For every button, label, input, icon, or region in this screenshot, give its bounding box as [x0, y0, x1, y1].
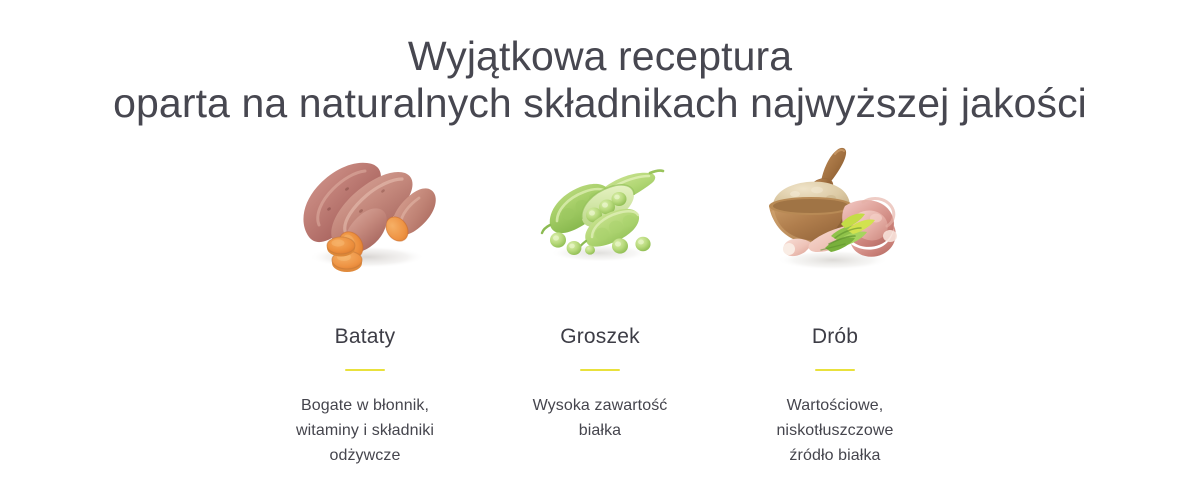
ingredient-title: Drób: [812, 324, 858, 350]
ingredient-description: Bogate w błonnik, witaminy i składniki o…: [296, 393, 434, 468]
ingredients-section: Wyjątkowa receptura oparta na naturalnyc…: [0, 0, 1200, 500]
poultry-and-meal-bowl-image: [755, 140, 915, 280]
ingredient-columns: Bataty Bogate w błonnik, witaminy i skła…: [248, 140, 952, 468]
green-peas-image: [520, 140, 680, 280]
ingredient-description: Wartościowe, niskotłuszczowe źródło biał…: [776, 393, 893, 468]
ingredient-title: Bataty: [335, 324, 396, 350]
page-title: Wyjątkowa receptura oparta na naturalnyc…: [0, 33, 1200, 127]
title-divider: [815, 369, 855, 371]
ingredient-description: Wysoka zawartość białka: [533, 393, 668, 443]
sweet-potato-image: [285, 140, 445, 280]
ingredient-card-drob: Drób Wartościowe, niskotłuszczowe źródło…: [718, 140, 952, 468]
ingredient-title: Groszek: [560, 324, 640, 350]
page-title-line-1: Wyjątkowa receptura: [0, 33, 1200, 80]
ingredient-card-groszek: Groszek Wysoka zawartość białka: [483, 140, 717, 468]
ingredient-card-bataty: Bataty Bogate w błonnik, witaminy i skła…: [248, 140, 482, 468]
page-title-line-2: oparta na naturalnych składnikach najwyż…: [0, 80, 1200, 127]
title-divider: [345, 369, 385, 371]
title-divider: [580, 369, 620, 371]
